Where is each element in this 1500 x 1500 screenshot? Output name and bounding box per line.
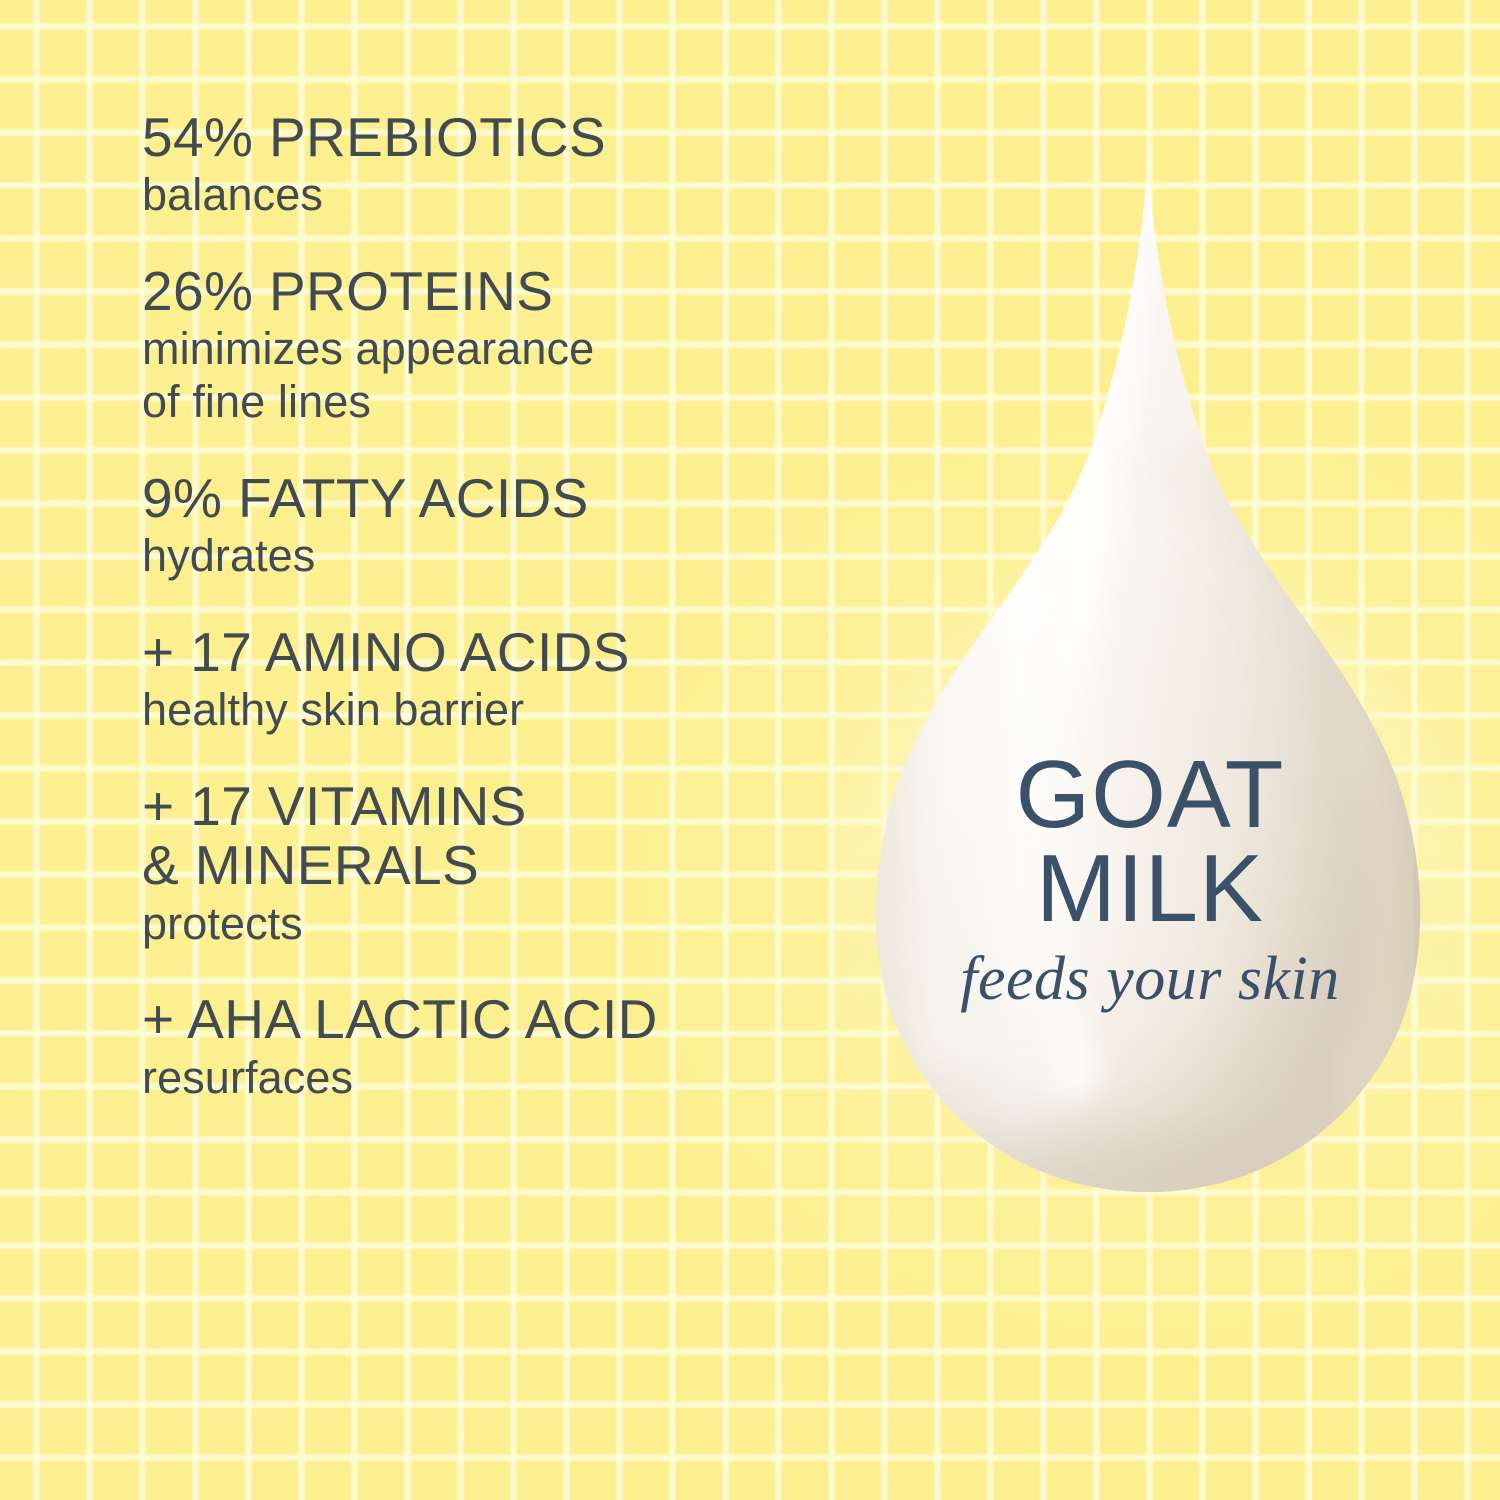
fact-description: healthy skin barrier bbox=[142, 684, 842, 737]
fact-description: balances bbox=[142, 169, 842, 222]
infographic-canvas: 54% PREBIOTICS balances 26% PROTEINS min… bbox=[0, 0, 1500, 1500]
fact-headline: + 17 VITAMINS & MINERALS bbox=[142, 777, 842, 896]
fact-item: 54% PREBIOTICS balances bbox=[142, 108, 842, 222]
milk-droplet-icon bbox=[830, 140, 1470, 1220]
fact-item: + AHA LACTIC ACID resurfaces bbox=[142, 990, 842, 1104]
fact-item: + 17 AMINO ACIDS healthy skin barrier bbox=[142, 623, 842, 737]
fact-headline: 54% PREBIOTICS bbox=[142, 108, 842, 167]
ingredient-fact-list: 54% PREBIOTICS balances 26% PROTEINS min… bbox=[142, 108, 842, 1104]
fact-headline: + 17 AMINO ACIDS bbox=[142, 623, 842, 682]
fact-description: protects bbox=[142, 898, 842, 951]
fact-headline: 26% PROTEINS bbox=[142, 262, 842, 321]
fact-headline: + AHA LACTIC ACID bbox=[142, 990, 842, 1049]
milk-droplet-graphic: GOAT MILK feeds your skin bbox=[830, 140, 1470, 1220]
fact-headline: 9% FATTY ACIDS bbox=[142, 469, 842, 528]
fact-item: + 17 VITAMINS & MINERALS protects bbox=[142, 777, 842, 950]
fact-item: 26% PROTEINS minimizes appearance of fin… bbox=[142, 262, 842, 429]
fact-item: 9% FATTY ACIDS hydrates bbox=[142, 469, 842, 583]
fact-description: minimizes appearance of fine lines bbox=[142, 323, 842, 428]
fact-description: resurfaces bbox=[142, 1052, 842, 1105]
fact-description: hydrates bbox=[142, 530, 842, 583]
